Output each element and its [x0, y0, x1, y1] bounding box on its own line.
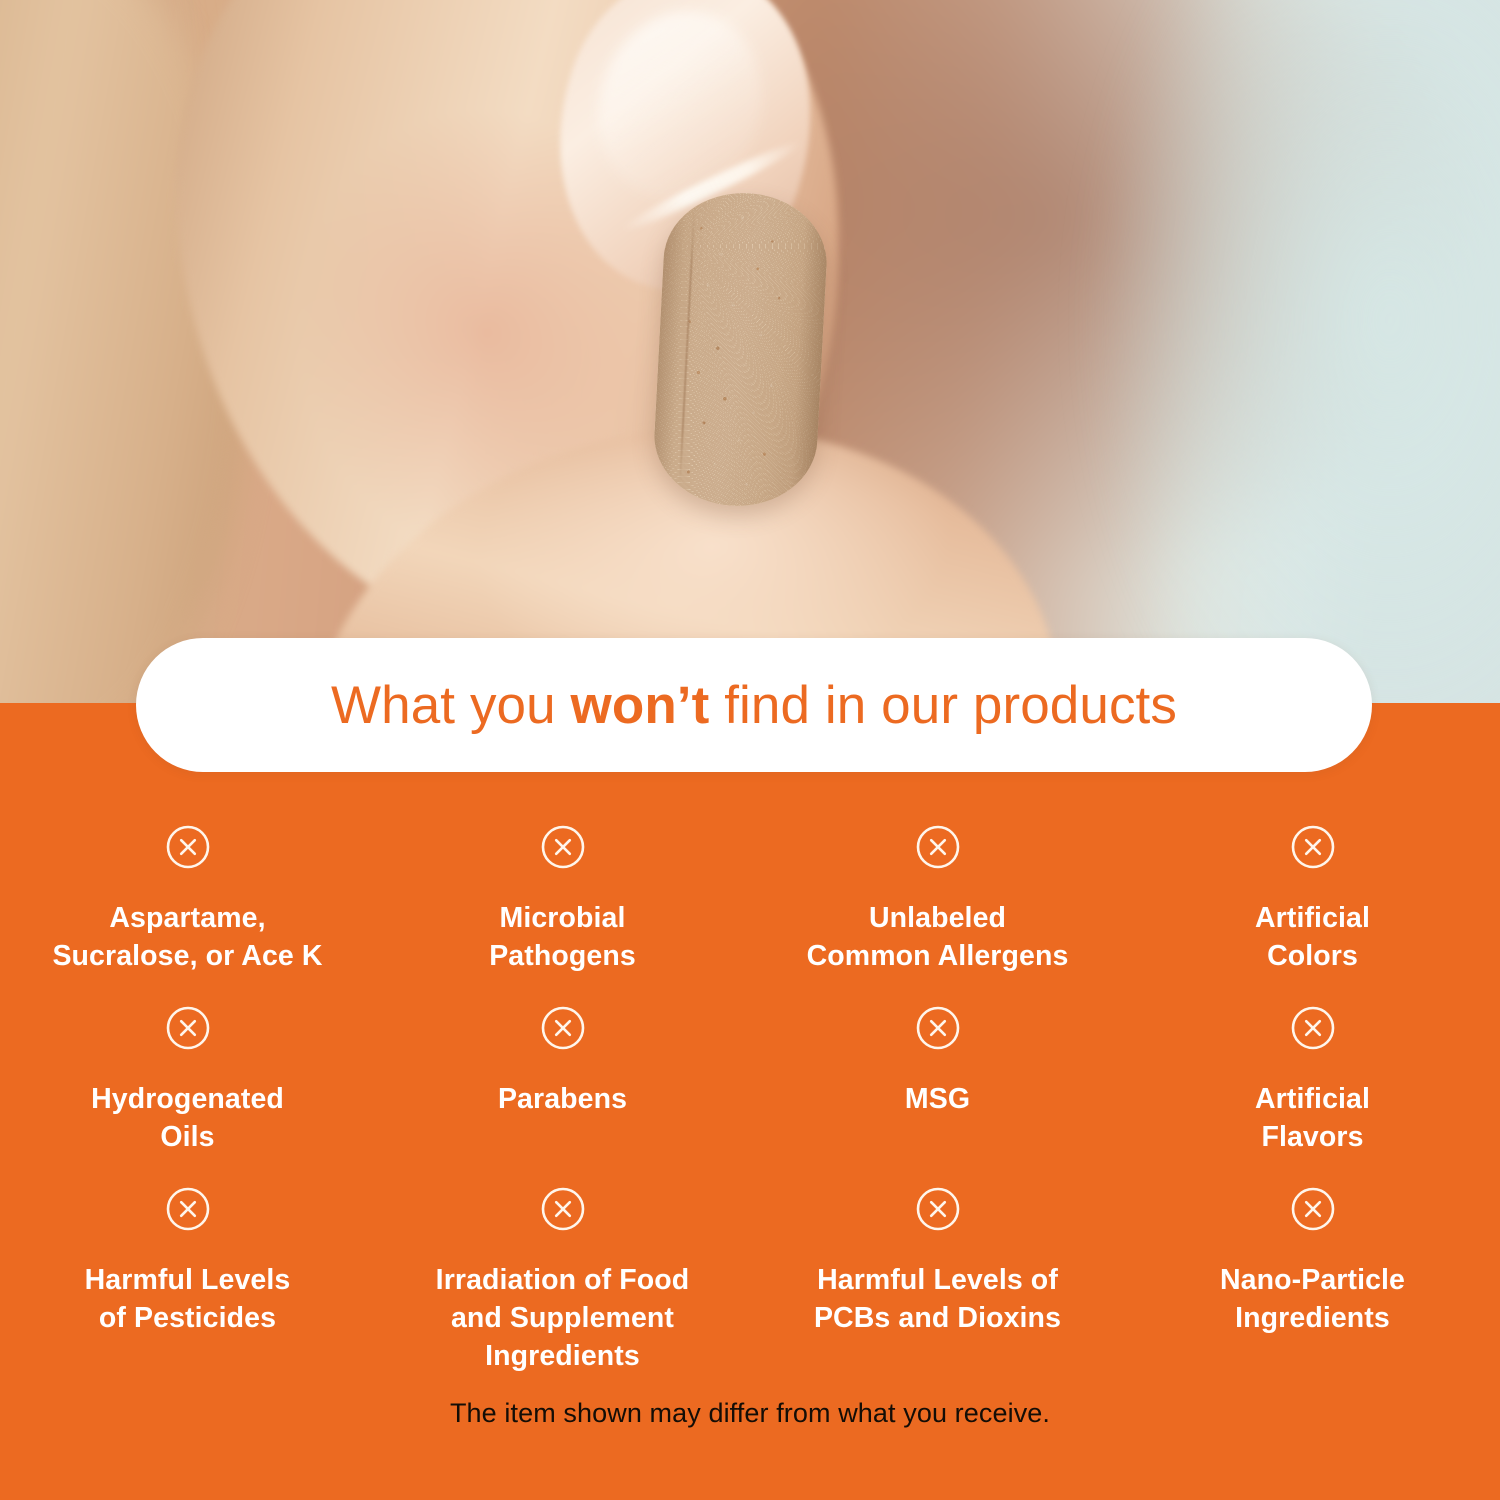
circle-x-icon	[165, 1005, 211, 1051]
exclusions-grid: Aspartame, Sucralose, or Ace K Microbial…	[0, 812, 1500, 1375]
exclusion-label: Microbial Pathogens	[489, 900, 636, 975]
title-pill: What you won’t find in our products	[136, 638, 1372, 772]
supplement-tablet	[651, 189, 830, 510]
circle-x-icon	[915, 1005, 961, 1051]
exclusion-label: Harmful Levels of Pesticides	[85, 1262, 291, 1337]
exclusion-item: Parabens	[375, 993, 750, 1156]
circle-x-icon	[540, 1186, 586, 1232]
exclusion-label: Parabens	[498, 1081, 627, 1119]
exclusion-label: Harmful Levels of PCBs and Dioxins	[814, 1262, 1061, 1337]
circle-x-icon	[540, 1005, 586, 1051]
exclusion-label: Irradiation of Food and Supplement Ingre…	[436, 1262, 690, 1375]
exclusion-label: MSG	[905, 1081, 970, 1119]
circle-x-icon	[915, 1186, 961, 1232]
exclusion-item: Aspartame, Sucralose, or Ace K	[0, 812, 375, 975]
exclusion-label: Unlabeled Common Allergens	[807, 900, 1069, 975]
page-title: What you won’t find in our products	[331, 679, 1177, 732]
exclusion-item: Nano-Particle Ingredients	[1125, 1174, 1500, 1375]
disclaimer-text: The item shown may differ from what you …	[0, 1398, 1500, 1429]
circle-x-icon	[1290, 824, 1336, 870]
exclusion-label: Artificial Flavors	[1255, 1081, 1370, 1156]
exclusion-item: Artificial Flavors	[1125, 993, 1500, 1156]
exclusion-label: Artificial Colors	[1255, 900, 1370, 975]
circle-x-icon	[1290, 1005, 1336, 1051]
exclusion-item: Unlabeled Common Allergens	[750, 812, 1125, 975]
circle-x-icon	[165, 1186, 211, 1232]
circle-x-icon	[540, 824, 586, 870]
circle-x-icon	[165, 824, 211, 870]
infographic-canvas: What you won’t find in our products Aspa…	[0, 0, 1500, 1500]
title-part-two: find in our products	[709, 676, 1177, 735]
exclusion-item: Harmful Levels of PCBs and Dioxins	[750, 1174, 1125, 1375]
title-emphasis: won’t	[571, 676, 710, 735]
circle-x-icon	[1290, 1186, 1336, 1232]
exclusion-item: Artificial Colors	[1125, 812, 1500, 975]
exclusion-item: Irradiation of Food and Supplement Ingre…	[375, 1174, 750, 1375]
exclusion-item: Microbial Pathogens	[375, 812, 750, 975]
title-part-one: What you	[331, 676, 571, 735]
exclusion-label: Aspartame, Sucralose, or Ace K	[52, 900, 322, 975]
exclusion-item: Hydrogenated Oils	[0, 993, 375, 1156]
exclusion-label: Hydrogenated Oils	[91, 1081, 284, 1156]
product-photo	[0, 0, 1500, 703]
exclusion-item: Harmful Levels of Pesticides	[0, 1174, 375, 1375]
circle-x-icon	[915, 824, 961, 870]
exclusion-item: MSG	[750, 993, 1125, 1156]
exclusion-label: Nano-Particle Ingredients	[1220, 1262, 1405, 1337]
